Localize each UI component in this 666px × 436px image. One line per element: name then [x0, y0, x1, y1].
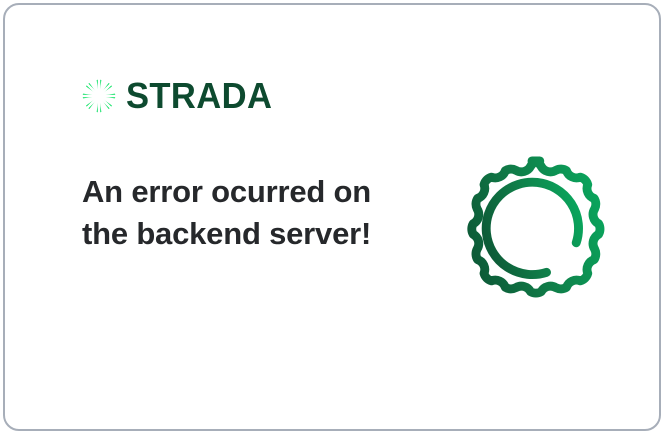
error-message-headline: An error ocurred on the backend server!	[82, 171, 382, 255]
strada-asterisk-icon	[81, 78, 117, 114]
error-card: STRADA An error ocurred on the backend s…	[3, 3, 661, 431]
gear-icon	[451, 148, 613, 310]
brand-wordmark: STRADA	[126, 78, 272, 114]
brand-logo: STRADA	[81, 73, 278, 119]
